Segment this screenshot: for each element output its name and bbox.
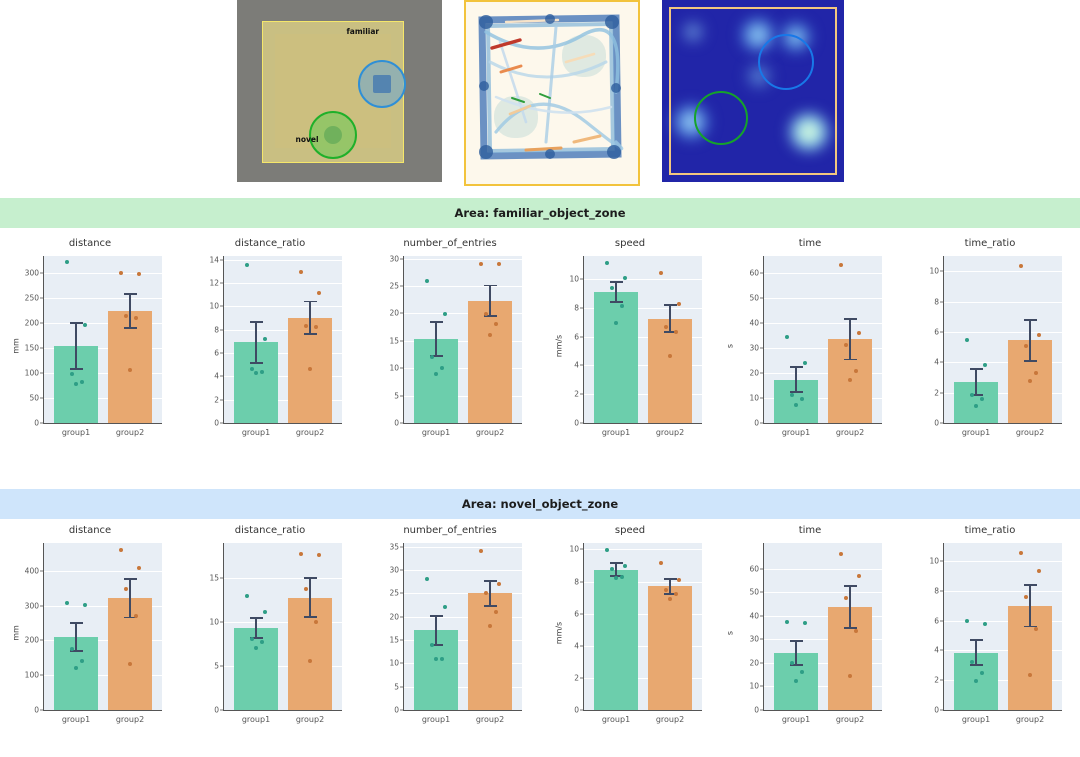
data-point [839, 263, 843, 267]
novel-object-shape [324, 126, 342, 144]
y-axis-label: mm/s [555, 335, 564, 357]
data-point [1024, 595, 1028, 599]
data-point [1019, 264, 1023, 268]
x-axis-tick-group1: group1 [946, 715, 1006, 724]
error-bar-group1 [795, 641, 797, 665]
y-axis-line [403, 256, 404, 423]
y-axis-tick-label: 30 [749, 635, 759, 644]
x-axis-line [763, 423, 882, 424]
gridline [224, 578, 342, 579]
section-banner-novel: Area: novel_object_zone [0, 489, 1080, 519]
gridline [584, 279, 702, 280]
x-axis-tick-group1: group1 [226, 715, 286, 724]
plot-area: 0100200300400group1group2 [44, 543, 162, 710]
y-axis-tick-label: 6 [574, 609, 579, 618]
heatmap-panel [662, 0, 844, 182]
gridline [764, 273, 882, 274]
data-point [254, 646, 258, 650]
error-bar-cap [70, 622, 83, 624]
heatmap-arena-frame [669, 7, 837, 175]
y-axis-tick-label: 40 [749, 319, 759, 328]
y-axis-tick-label: 35 [389, 542, 399, 551]
y-axis-tick-label: 30 [389, 566, 399, 575]
plot-area: 0246810group1group2 [944, 543, 1062, 710]
data-point [790, 661, 794, 665]
data-point [443, 312, 447, 316]
chart-title: number_of_entries [360, 525, 540, 536]
chart-cell: speedmm/s0246810group1group2 [540, 523, 720, 743]
plot-area: 0102030405060group1group2 [764, 543, 882, 710]
data-point [659, 561, 663, 565]
data-point [304, 324, 308, 328]
x-axis-line [583, 710, 702, 711]
chart-row-familiar: distancemm050100150200250300group1group2… [0, 236, 1080, 456]
data-point [844, 596, 848, 600]
gridline [764, 569, 882, 570]
y-axis-tick-label: 6 [934, 616, 939, 625]
gridline [764, 592, 882, 593]
error-bar-cap [304, 616, 317, 618]
error-bar-cap [124, 578, 137, 580]
data-point [299, 270, 303, 274]
y-axis-label: s [726, 344, 735, 348]
y-axis-tick-label: 6 [574, 332, 579, 341]
data-point [440, 657, 444, 661]
chart-title: speed [540, 238, 720, 249]
error-bar-group1 [975, 369, 977, 396]
chart-title: time_ratio [900, 525, 1080, 536]
y-axis-tick-label: 100 [25, 671, 39, 680]
data-point [260, 640, 264, 644]
y-axis-tick-label: 20 [749, 369, 759, 378]
gridline [404, 259, 522, 260]
gridline [44, 273, 162, 274]
x-axis-tick-group1: group1 [586, 715, 646, 724]
data-point [620, 304, 624, 308]
error-bar-group2 [129, 294, 131, 328]
bar-group2 [648, 319, 692, 423]
error-bar-group1 [255, 618, 257, 638]
data-point [970, 660, 974, 664]
chart-title: distance [0, 525, 180, 536]
y-axis-tick-label: 8 [574, 303, 579, 312]
error-bar-group2 [309, 578, 311, 617]
error-bar-cap [1024, 584, 1037, 586]
bar-group2 [468, 593, 512, 710]
data-point [1034, 371, 1038, 375]
x-axis-tick-group2: group2 [460, 715, 520, 724]
data-point [857, 574, 861, 578]
data-point [137, 272, 141, 276]
y-axis-tick-label: 2 [574, 673, 579, 682]
data-point [800, 670, 804, 674]
chart-cell: distancemm050100150200250300group1group2 [0, 236, 180, 456]
y-axis-label: mm [11, 338, 20, 354]
x-axis-tick-group1: group1 [766, 428, 826, 437]
y-axis-tick-label: 10 [389, 659, 399, 668]
error-bar-cap [664, 578, 677, 580]
y-axis-tick-label: 10 [749, 394, 759, 403]
error-bar-cap [610, 281, 623, 283]
data-point [803, 621, 807, 625]
bar-group2 [648, 586, 692, 710]
data-point [610, 286, 614, 290]
data-point [674, 330, 678, 334]
y-axis-tick-label: 4 [934, 358, 939, 367]
y-axis-tick-label: 50 [749, 294, 759, 303]
top-image-strip: familiar novel [0, 0, 1080, 196]
chart-cell: time_ratio0246810group1group2 [900, 523, 1080, 743]
error-bar-group2 [489, 286, 491, 317]
data-point [124, 314, 128, 318]
data-point [83, 323, 87, 327]
y-axis-line [43, 256, 44, 423]
y-axis-tick-label: 10 [389, 364, 399, 373]
error-bar-cap [430, 615, 443, 617]
error-bar-cap [124, 293, 137, 295]
y-axis-tick-label: 2 [574, 390, 579, 399]
y-axis-tick-label: 30 [749, 344, 759, 353]
data-point [839, 552, 843, 556]
arena-setup-image: familiar novel [237, 0, 442, 182]
x-axis-tick-group2: group2 [820, 428, 880, 437]
novel-zone-label: novel [296, 135, 319, 144]
data-point [74, 382, 78, 386]
y-axis-tick-label: 40 [749, 611, 759, 620]
error-bar-group2 [849, 319, 851, 359]
error-bar-group1 [75, 323, 77, 369]
chart-cell: times0102030405060group1group2 [720, 236, 900, 456]
x-axis-tick-group1: group1 [226, 428, 286, 437]
y-axis-tick-label: 20 [389, 612, 399, 621]
data-point [314, 620, 318, 624]
error-bar-cap [1024, 360, 1037, 362]
y-axis-tick-label: 10 [929, 267, 939, 276]
data-point [844, 343, 848, 347]
chart-cell: times0102030405060group1group2 [720, 523, 900, 743]
y-axis-tick-label: 10 [929, 556, 939, 565]
error-bar-cap [790, 366, 803, 368]
y-axis-line [223, 256, 224, 423]
bar-group1 [594, 570, 638, 711]
y-axis-tick-label: 4 [574, 361, 579, 370]
y-axis-tick-label: 0 [934, 419, 939, 428]
error-bar-group1 [975, 640, 977, 664]
gridline [584, 549, 702, 550]
data-point [494, 322, 498, 326]
familiar-zone-label: familiar [347, 27, 380, 36]
y-axis-tick-label: 50 [749, 588, 759, 597]
error-bar-cap [304, 301, 317, 303]
data-point [83, 603, 87, 607]
y-axis-line [583, 543, 584, 710]
data-point [854, 629, 858, 633]
chart-title: time [720, 238, 900, 249]
data-point [605, 548, 609, 552]
error-bar-cap [970, 368, 983, 370]
data-point [668, 597, 672, 601]
data-point [488, 333, 492, 337]
y-axis-tick-label: 0 [214, 706, 219, 715]
x-axis-tick-group2: group2 [280, 715, 340, 724]
x-axis-tick-group1: group1 [46, 715, 106, 724]
error-bar-group1 [615, 563, 617, 576]
y-axis-tick-label: 0 [934, 706, 939, 715]
data-point [308, 659, 312, 663]
y-axis-tick-label: 200 [25, 319, 39, 328]
y-axis-tick-label: 14 [209, 255, 219, 264]
plot-area: 0246810group1group2 [584, 543, 702, 710]
y-axis-tick-label: 0 [214, 419, 219, 428]
y-axis-line [43, 543, 44, 710]
gridline [764, 298, 882, 299]
y-axis-tick-label: 0 [754, 419, 759, 428]
error-bar-group2 [129, 579, 131, 617]
data-point [668, 354, 672, 358]
plot-area: 0102030405060group1group2 [764, 256, 882, 423]
report-page: familiar novel [0, 0, 1080, 757]
data-point [245, 263, 249, 267]
gridline [224, 283, 342, 284]
x-axis-tick-group2: group2 [820, 715, 880, 724]
data-point [250, 637, 254, 641]
y-axis-tick-label: 150 [25, 344, 39, 353]
chart-row-novel: distancemm0100200300400group1group2dista… [0, 523, 1080, 743]
bar-group2 [468, 301, 512, 423]
data-point [794, 403, 798, 407]
y-axis-tick-label: 30 [389, 254, 399, 263]
error-bar-cap [250, 362, 263, 364]
error-bar-group1 [255, 322, 257, 363]
data-point [1024, 344, 1028, 348]
data-point [494, 610, 498, 614]
y-axis-tick-label: 8 [214, 325, 219, 334]
x-axis-tick-group2: group2 [100, 715, 160, 724]
x-axis-tick-group1: group1 [406, 715, 466, 724]
y-axis-tick-label: 10 [569, 275, 579, 284]
error-bar-cap [484, 605, 497, 607]
y-axis-tick-label: 200 [25, 636, 39, 645]
chart-cell: number_of_entries051015202530group1group… [360, 236, 540, 456]
plot-area: 05101520253035group1group2 [404, 543, 522, 710]
y-axis-tick-label: 2 [934, 388, 939, 397]
data-point [857, 331, 861, 335]
chart-cell: distance_ratio051015group1group2 [180, 523, 360, 743]
data-point [983, 363, 987, 367]
bar-group1 [594, 292, 638, 423]
y-axis-line [763, 256, 764, 423]
x-axis-line [403, 423, 522, 424]
data-point [245, 594, 249, 598]
data-point [425, 279, 429, 283]
error-bar-cap [844, 318, 857, 320]
data-point [974, 679, 978, 683]
data-point [497, 262, 501, 266]
gridline [224, 260, 342, 261]
data-point [479, 549, 483, 553]
data-point [1037, 333, 1041, 337]
gridline [404, 286, 522, 287]
data-point [794, 679, 798, 683]
gridline [404, 570, 522, 571]
y-axis-line [583, 256, 584, 423]
y-axis-tick-label: 10 [209, 302, 219, 311]
chart-cell: time_ratio0246810group1group2 [900, 236, 1080, 456]
section-title: Area: novel_object_zone [462, 497, 618, 511]
arena-setup-panel: familiar novel [237, 0, 442, 182]
data-point [317, 291, 321, 295]
x-axis-tick-group2: group2 [100, 428, 160, 437]
data-point [1019, 551, 1023, 555]
x-axis-tick-group2: group2 [640, 715, 700, 724]
y-axis-tick-label: 4 [214, 372, 219, 381]
data-point [623, 564, 627, 568]
gridline [944, 591, 1062, 592]
data-point [854, 369, 858, 373]
data-point [983, 622, 987, 626]
data-point [128, 662, 132, 666]
x-axis-tick-group2: group2 [280, 428, 340, 437]
data-point [124, 587, 128, 591]
data-point [620, 575, 624, 579]
x-axis-tick-group2: group2 [1000, 428, 1060, 437]
data-point [980, 671, 984, 675]
y-axis-tick-label: 25 [389, 282, 399, 291]
y-axis-tick-label: 100 [25, 369, 39, 378]
error-bar-cap [970, 639, 983, 641]
data-point [314, 325, 318, 329]
plot-area: 051015group1group2 [224, 543, 342, 710]
y-axis-line [223, 543, 224, 710]
y-axis-tick-label: 4 [574, 641, 579, 650]
error-bar-group2 [1029, 320, 1031, 361]
chart-cell: speedmm/s0246810group1group2 [540, 236, 720, 456]
data-point [484, 591, 488, 595]
data-point [848, 378, 852, 382]
gridline [44, 571, 162, 572]
y-axis-tick-label: 12 [209, 278, 219, 287]
section-banner-familiar: Area: familiar_object_zone [0, 198, 1080, 228]
data-point [434, 372, 438, 376]
gridline [44, 298, 162, 299]
data-point [664, 588, 668, 592]
error-bar-group2 [489, 581, 491, 606]
y-axis-tick-label: 2 [214, 395, 219, 404]
y-axis-tick-label: 0 [34, 419, 39, 428]
data-point [488, 624, 492, 628]
data-point [664, 325, 668, 329]
data-point [434, 657, 438, 661]
y-axis-tick-label: 0 [574, 419, 579, 428]
y-axis-tick-label: 6 [934, 327, 939, 336]
x-axis-tick-group2: group2 [640, 428, 700, 437]
y-axis-tick-label: 5 [394, 391, 399, 400]
x-axis-tick-group2: group2 [460, 428, 520, 437]
data-point [70, 372, 74, 376]
data-point [304, 587, 308, 591]
error-bar-group1 [615, 282, 617, 303]
data-point [80, 659, 84, 663]
y-axis-tick-label: 0 [574, 706, 579, 715]
gridline [944, 271, 1062, 272]
section-title: Area: familiar_object_zone [454, 206, 625, 220]
data-point [965, 619, 969, 623]
y-axis-tick-label: 10 [749, 682, 759, 691]
data-point [317, 553, 321, 557]
data-point [134, 614, 138, 618]
y-axis-tick-label: 8 [574, 577, 579, 586]
data-point [965, 338, 969, 342]
x-axis-tick-group1: group1 [946, 428, 1006, 437]
gridline [404, 547, 522, 548]
data-point [790, 393, 794, 397]
data-point [137, 566, 141, 570]
data-point [308, 367, 312, 371]
gridline [224, 306, 342, 307]
data-point [254, 371, 258, 375]
data-point [119, 271, 123, 275]
error-bar-cap [430, 321, 443, 323]
chart-title: distance [0, 238, 180, 249]
y-axis-tick-label: 8 [934, 586, 939, 595]
y-axis-label: mm [11, 625, 20, 641]
y-axis-tick-label: 10 [209, 618, 219, 627]
data-point [1034, 627, 1038, 631]
trajectory-paths [466, 2, 638, 184]
chart-title: distance_ratio [180, 525, 360, 536]
y-axis-label: mm/s [555, 622, 564, 644]
familiar-object-zone-marker [358, 60, 406, 108]
y-axis-label: s [726, 631, 735, 635]
data-point [65, 601, 69, 605]
y-axis-tick-label: 8 [934, 297, 939, 306]
x-axis-line [583, 423, 702, 424]
occupancy-heatmap-image [662, 0, 844, 182]
data-point [674, 592, 678, 596]
data-point [623, 276, 627, 280]
gridline [944, 332, 1062, 333]
x-axis-tick-group1: group1 [586, 428, 646, 437]
y-axis-tick-label: 5 [214, 662, 219, 671]
error-bar-cap [250, 321, 263, 323]
x-axis-tick-group1: group1 [406, 428, 466, 437]
data-point [65, 260, 69, 264]
y-axis-tick-label: 15 [389, 336, 399, 345]
data-point [263, 610, 267, 614]
plot-area: 02468101214group1group2 [224, 256, 342, 423]
trajectory-plot-image [464, 0, 640, 186]
data-point [800, 397, 804, 401]
plot-area: 051015202530group1group2 [404, 256, 522, 423]
arena-floor [262, 21, 404, 163]
bar-group1 [234, 628, 278, 710]
data-point [974, 404, 978, 408]
error-bar-group2 [669, 305, 671, 332]
chart-title: time [720, 525, 900, 536]
y-axis-tick-label: 0 [754, 706, 759, 715]
y-axis-tick-label: 300 [25, 269, 39, 278]
y-axis-tick-label: 50 [29, 394, 39, 403]
error-bar-cap [610, 562, 623, 564]
y-axis-tick-label: 2 [934, 676, 939, 685]
data-point [128, 368, 132, 372]
chart-title: speed [540, 525, 720, 536]
familiar-object-shape [373, 75, 391, 93]
data-point [263, 337, 267, 341]
error-bar-group2 [1029, 585, 1031, 627]
error-bar-cap [844, 585, 857, 587]
plot-area: 0246810group1group2 [944, 256, 1062, 423]
